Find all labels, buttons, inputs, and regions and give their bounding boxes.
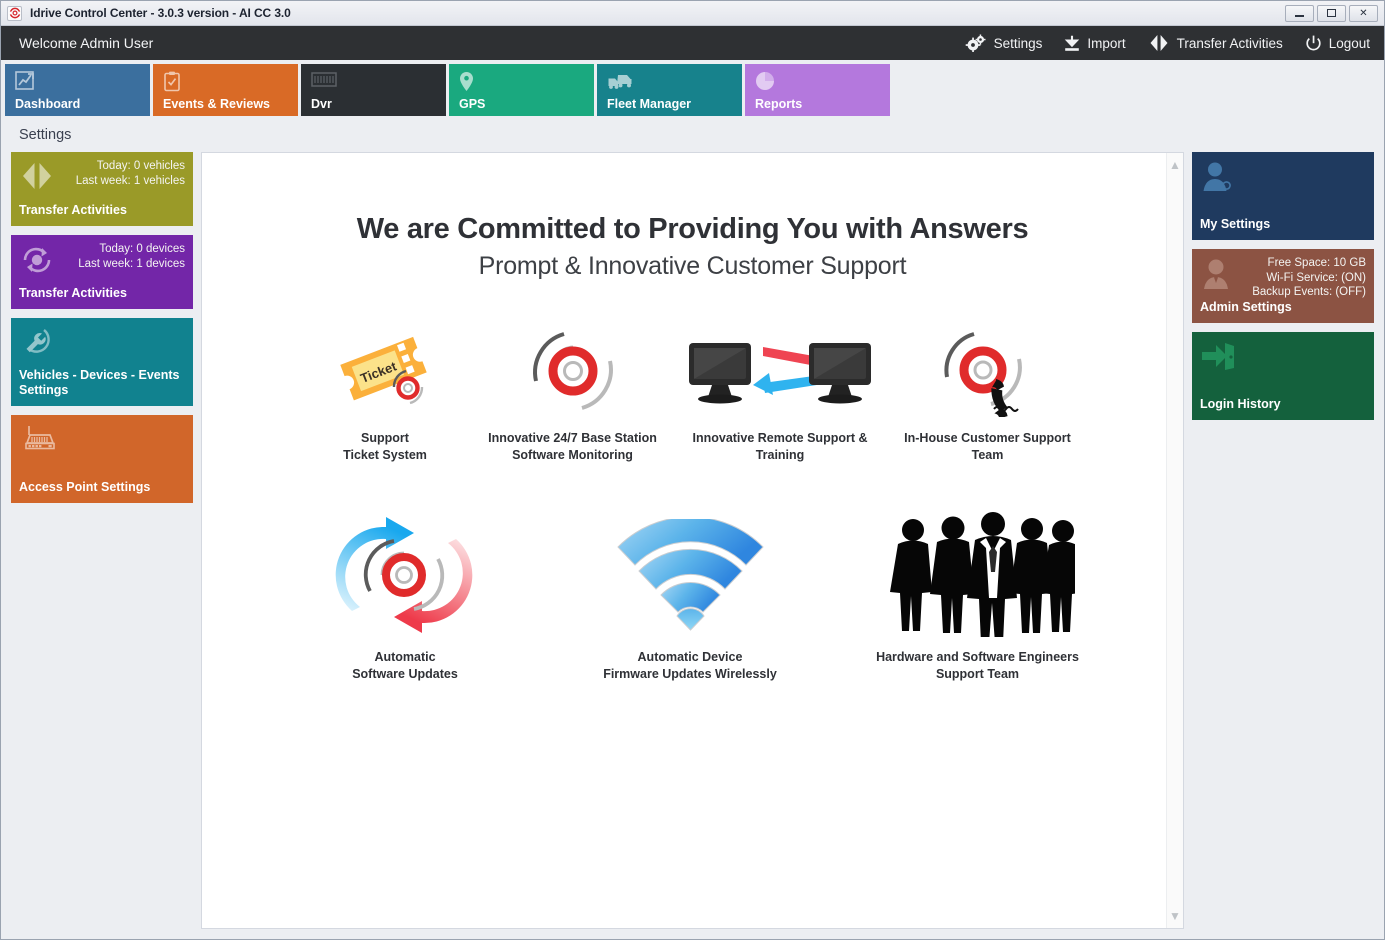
minimize-button[interactable] — [1285, 5, 1314, 22]
feature-firmware-updates-wireless: Automatic Device Firmware Updates Wirele… — [538, 512, 843, 683]
tile-stats: Today: 0 vehicles Last week: 1 vehicles — [76, 159, 185, 188]
transfer-arrows-icon — [20, 161, 54, 196]
feature-caption: Support Ticket System — [343, 430, 427, 464]
gears-icon — [965, 34, 987, 52]
nav-tab-label: Fleet Manager — [607, 97, 691, 111]
tile-stat-line: Today: 0 devices — [78, 242, 185, 257]
tile-stat-line: Last week: 1 vehicles — [76, 174, 185, 189]
nav-tab-dvr[interactable]: Dvr — [301, 64, 446, 116]
chart-trend-icon — [15, 71, 37, 96]
feature-base-station-monitoring: Innovative 24/7 Base Station Software Mo… — [473, 323, 673, 464]
main-navigation: Dashboard Events & Reviews — [1, 60, 1384, 116]
settings-button[interactable]: Settings — [965, 34, 1043, 52]
import-button[interactable]: Import — [1064, 35, 1125, 52]
people-group-icon — [880, 512, 1075, 637]
support-ticket-icon: Ticket — [330, 323, 440, 418]
nav-tab-label: Events & Reviews — [163, 97, 270, 111]
nav-tab-reports[interactable]: Reports — [745, 64, 890, 116]
target-logo-icon — [7, 6, 22, 21]
transfer-arrows-icon — [1148, 34, 1170, 52]
breadcrumb: Settings — [1, 116, 1384, 152]
tile-stat-line: Backup Events: (OFF) — [1252, 285, 1366, 300]
software-update-icon — [330, 512, 480, 637]
nav-tab-events-reviews[interactable]: Events & Reviews — [153, 64, 298, 116]
logout-button[interactable]: Logout — [1305, 35, 1370, 52]
nav-tab-fleet-manager[interactable]: Fleet Manager — [597, 64, 742, 116]
content-heading-primary: We are Committed to Providing You with A… — [242, 213, 1143, 246]
feature-automatic-software-updates: Automatic Software Updates — [273, 512, 538, 683]
nav-tab-dashboard[interactable]: Dashboard — [5, 64, 150, 116]
tile-stats: Today: 0 devices Last week: 1 devices — [78, 242, 185, 271]
nav-tab-label: Reports — [755, 97, 802, 111]
feature-caption: In-House Customer Support Team — [904, 430, 1071, 464]
maximize-button[interactable] — [1317, 5, 1346, 22]
feature-in-house-support-team: In-House Customer Support Team — [888, 323, 1088, 464]
scroll-down-icon[interactable]: ▼ — [1169, 910, 1181, 922]
top-actions: Settings Import Transf — [965, 34, 1370, 52]
tile-vehicles-devices-events-settings[interactable]: Vehicles - Devices - Events Settings — [11, 318, 193, 406]
transfer-activities-button[interactable]: Transfer Activities — [1148, 34, 1283, 52]
feature-remote-support-training: Innovative Remote Support & Training — [673, 323, 888, 464]
window-controls: ✕ — [1285, 5, 1382, 22]
feature-row-2: Automatic Software Updates — [242, 512, 1143, 683]
scroll-up-icon[interactable]: ▲ — [1169, 159, 1181, 171]
logout-label: Logout — [1329, 36, 1370, 51]
tile-stat-line: Last week: 1 devices — [78, 257, 185, 272]
feature-row-1: Ticket Support Ticket System — [242, 323, 1143, 464]
tile-stats: Free Space: 10 GB Wi-Fi Service: (ON) Ba… — [1252, 256, 1366, 300]
welcome-message: Welcome Admin User — [19, 35, 153, 51]
feature-caption: Automatic Software Updates — [352, 649, 458, 683]
tile-title: Login History — [1200, 397, 1366, 412]
right-sidebar: My Settings Free Space: 10 GB Wi-Fi Serv… — [1192, 152, 1374, 929]
tile-title: Vehicles - Devices - Events Settings — [19, 368, 185, 398]
admin-user-icon — [1201, 258, 1231, 295]
feature-support-ticket-system: Ticket Support Ticket System — [298, 323, 473, 464]
settings-label: Settings — [994, 36, 1043, 51]
wrench-icon — [20, 327, 54, 364]
dvr-box-icon — [311, 71, 337, 94]
sync-circle-icon — [20, 244, 54, 281]
feature-caption: Innovative Remote Support & Training — [692, 430, 867, 464]
wifi-icon — [613, 512, 768, 637]
content-scrollbar[interactable]: ▲ ▼ — [1166, 153, 1183, 928]
body-area: Today: 0 vehicles Last week: 1 vehicles … — [1, 152, 1384, 939]
tile-stat-line: Free Space: 10 GB — [1252, 256, 1366, 271]
tile-transfer-activities-devices[interactable]: Today: 0 devices Last week: 1 devices Tr… — [11, 235, 193, 309]
tile-admin-settings[interactable]: Free Space: 10 GB Wi-Fi Service: (ON) Ba… — [1192, 249, 1374, 323]
tile-title: Transfer Activities — [19, 286, 185, 301]
feature-caption: Innovative 24/7 Base Station Software Mo… — [488, 430, 657, 464]
nav-tab-label: Dashboard — [15, 97, 80, 111]
content-heading-secondary: Prompt & Innovative Customer Support — [242, 252, 1143, 281]
tile-stat-line: Today: 0 vehicles — [76, 159, 185, 174]
tile-title: My Settings — [1200, 217, 1366, 232]
feature-caption: Hardware and Software Engineers Support … — [876, 649, 1079, 683]
target-monitoring-icon — [527, 323, 619, 418]
tile-access-point-settings[interactable]: Access Point Settings — [11, 415, 193, 503]
close-icon: ✕ — [1359, 8, 1367, 19]
title-bar: Idrive Control Center - 3.0.3 version - … — [1, 1, 1384, 26]
tile-transfer-activities-vehicles[interactable]: Today: 0 vehicles Last week: 1 vehicles … — [11, 152, 193, 226]
tile-title: Transfer Activities — [19, 203, 185, 218]
application-window: Idrive Control Center - 3.0.3 version - … — [0, 0, 1385, 940]
router-icon — [20, 424, 60, 461]
tile-my-settings[interactable]: My Settings — [1192, 152, 1374, 240]
tile-stat-line: Wi-Fi Service: (ON) — [1252, 271, 1366, 286]
nav-tab-label: GPS — [459, 97, 485, 111]
pie-chart-icon — [755, 71, 775, 96]
download-icon — [1064, 35, 1080, 52]
close-button[interactable]: ✕ — [1349, 5, 1378, 22]
window-title: Idrive Control Center - 3.0.3 version - … — [30, 6, 291, 20]
tile-title: Admin Settings — [1200, 300, 1366, 315]
nav-tab-gps[interactable]: GPS — [449, 64, 594, 116]
tile-login-history[interactable]: Login History — [1192, 332, 1374, 420]
user-settings-icon — [1201, 161, 1233, 198]
map-pin-icon — [459, 71, 474, 97]
remote-monitors-icon — [685, 323, 875, 418]
vehicles-icon — [607, 71, 633, 96]
target-phone-icon — [938, 323, 1038, 418]
top-action-bar: Welcome Admin User — [1, 26, 1384, 60]
main-content-panel: We are Committed to Providing You with A… — [201, 152, 1184, 929]
left-sidebar: Today: 0 vehicles Last week: 1 vehicles … — [11, 152, 193, 929]
clipboard-check-icon — [163, 71, 181, 97]
feature-caption: Automatic Device Firmware Updates Wirele… — [603, 649, 777, 683]
power-icon — [1305, 35, 1322, 52]
transfer-activities-label: Transfer Activities — [1177, 36, 1283, 51]
import-label: Import — [1087, 36, 1125, 51]
login-arrow-icon — [1201, 341, 1235, 376]
tile-title: Access Point Settings — [19, 480, 185, 495]
feature-engineers-support-team: Hardware and Software Engineers Support … — [843, 512, 1113, 683]
nav-tab-label: Dvr — [311, 97, 332, 111]
